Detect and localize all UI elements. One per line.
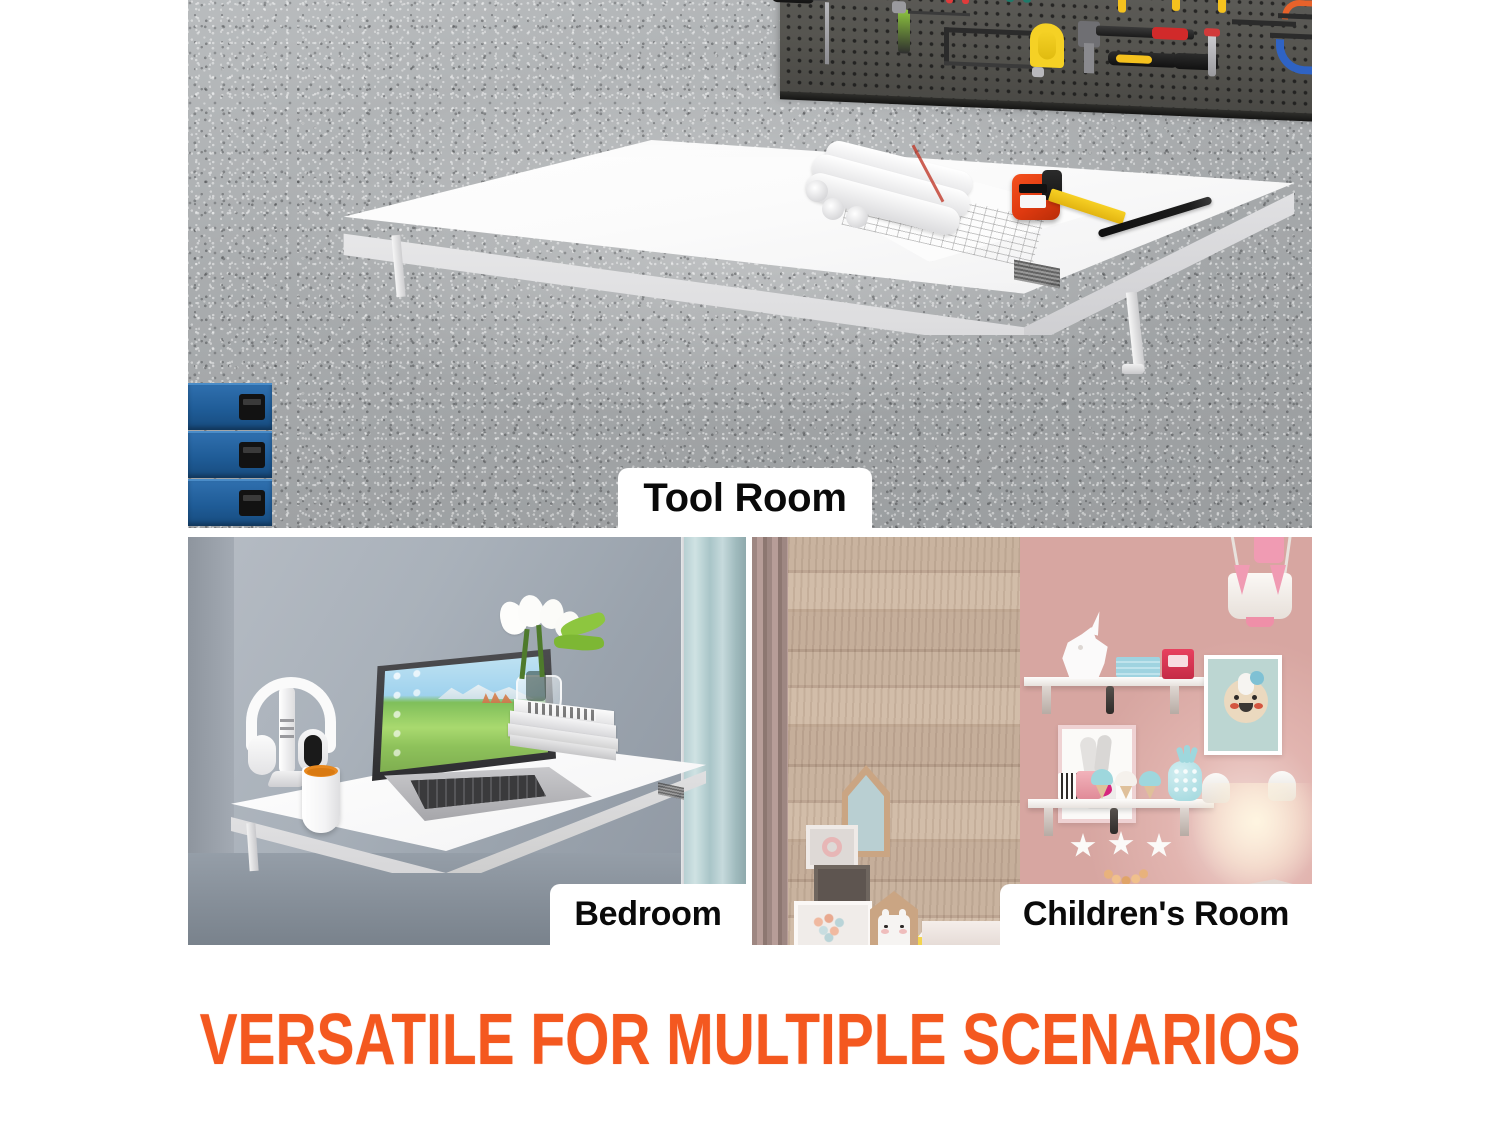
caption-tool-room: Tool Room	[618, 468, 872, 528]
drill-bit-icon	[825, 2, 829, 64]
caption-children-room: Children's Room	[1000, 884, 1312, 945]
panel-tool-room	[188, 0, 1312, 528]
tool-storage-boxes	[188, 383, 272, 528]
wall-light-glow	[1192, 783, 1312, 893]
toy-book-blue	[1116, 657, 1160, 677]
pry-bar-icon	[1200, 32, 1234, 81]
shelf-bracket	[1044, 808, 1053, 836]
ice-cream-toy	[1138, 771, 1162, 799]
shelf-hook	[1106, 686, 1114, 714]
tool-box-latch	[239, 442, 265, 468]
file-tool-yellow-icon	[1118, 0, 1126, 13]
laptop-desktop-icons	[386, 664, 430, 765]
rabbit-poster	[1204, 655, 1282, 755]
tool-box-latch	[239, 490, 265, 516]
pom-pom-heart	[810, 913, 852, 943]
tool-box	[188, 383, 272, 430]
pliers-head-icon	[892, 1, 906, 14]
tool-box-latch	[239, 394, 265, 420]
shelf-bracket	[1042, 686, 1051, 714]
file-tool-yellow-icon-3	[1218, 0, 1226, 13]
handsaw-blue-icon	[1276, 39, 1312, 84]
ice-cream-toy	[1090, 769, 1114, 799]
folding-wall-table-tool-room	[214, 140, 1294, 340]
shelf-bracket	[1170, 686, 1179, 714]
caption-bedroom-label: Bedroom	[574, 895, 721, 934]
rolled-blueprints	[800, 150, 1030, 240]
children-curtain	[752, 537, 788, 945]
pegboard	[780, 0, 1312, 116]
caption-children-room-label: Children's Room	[1023, 895, 1289, 934]
house-shelf-boxes	[796, 765, 938, 945]
shelf-box-dark	[814, 865, 870, 905]
caption-tool-room-label: Tool Room	[643, 476, 846, 521]
book-stack	[508, 705, 620, 763]
coffee-mug	[298, 767, 344, 839]
headphones	[246, 677, 336, 775]
hanging-swing	[1224, 537, 1312, 629]
tool-box	[188, 431, 272, 478]
striped-cup	[1058, 773, 1078, 799]
table-bracket-right-foot	[1122, 364, 1144, 374]
headline-text: VERSATILE FOR MULTIPLE SCENARIOS	[158, 1002, 1343, 1078]
caption-bedroom: Bedroom	[550, 884, 746, 945]
pliers-green-icon	[898, 9, 910, 54]
tool-box	[188, 479, 272, 526]
bead-garland	[1104, 867, 1148, 885]
marketing-image-canvas: Tool Room	[0, 0, 1500, 1125]
file-tool-yellow-icon-2	[1172, 0, 1180, 11]
unicorn-lamp	[1052, 611, 1120, 679]
hacksaw-icon	[944, 23, 1064, 74]
calla-lilies	[498, 595, 608, 681]
ice-cream-toy	[1114, 771, 1138, 799]
star-garland	[1070, 829, 1194, 863]
